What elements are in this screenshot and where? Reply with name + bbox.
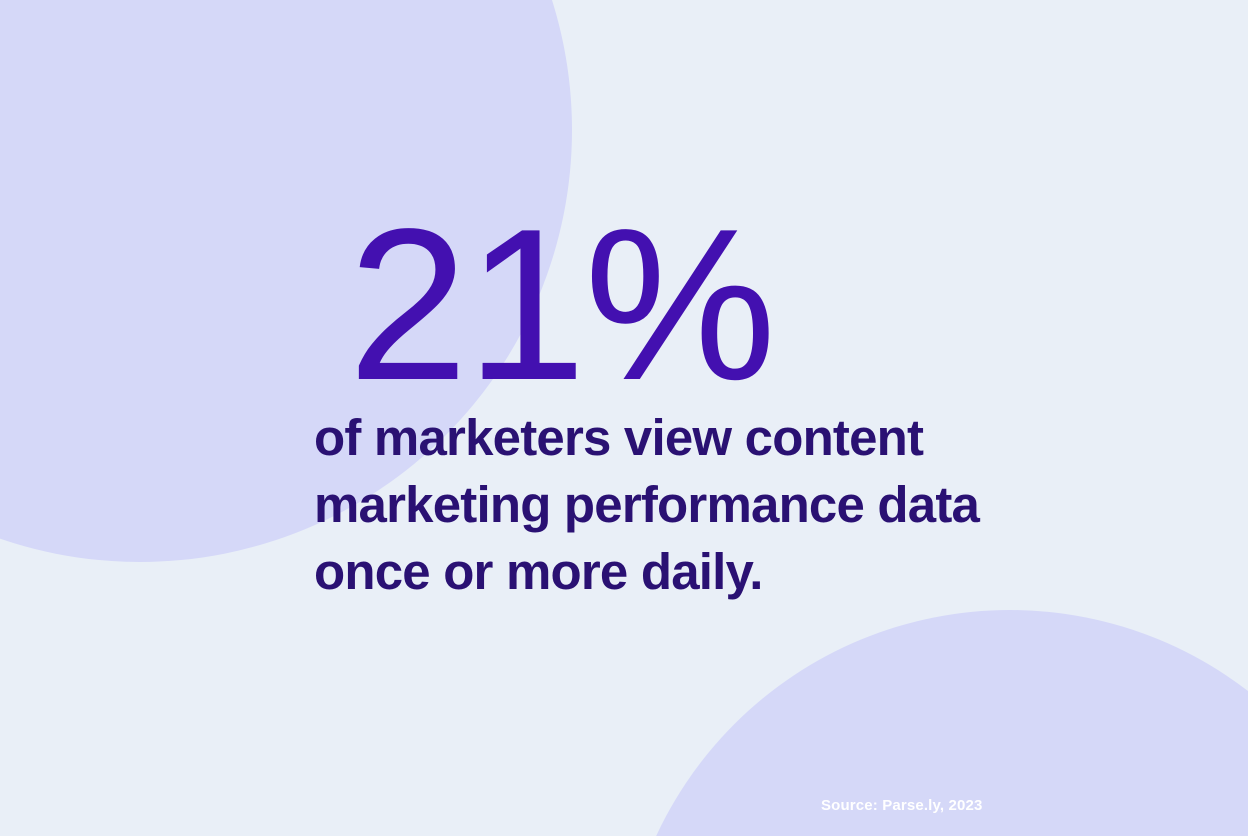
card-content: 21% of marketers view content marketing … <box>0 0 1248 836</box>
stat-value: 21% <box>348 196 774 412</box>
stat-headline: of marketers view content marketing perf… <box>314 404 1134 605</box>
headline-line-2: marketing performance data <box>314 471 1134 538</box>
headline-line-1: of marketers view content <box>314 404 1134 471</box>
statistic-card: 21% of marketers view content marketing … <box>0 0 1248 836</box>
source-attribution: Source: Parse.ly, 2023 <box>821 796 982 816</box>
headline-line-3: once or more daily. <box>314 538 1134 605</box>
